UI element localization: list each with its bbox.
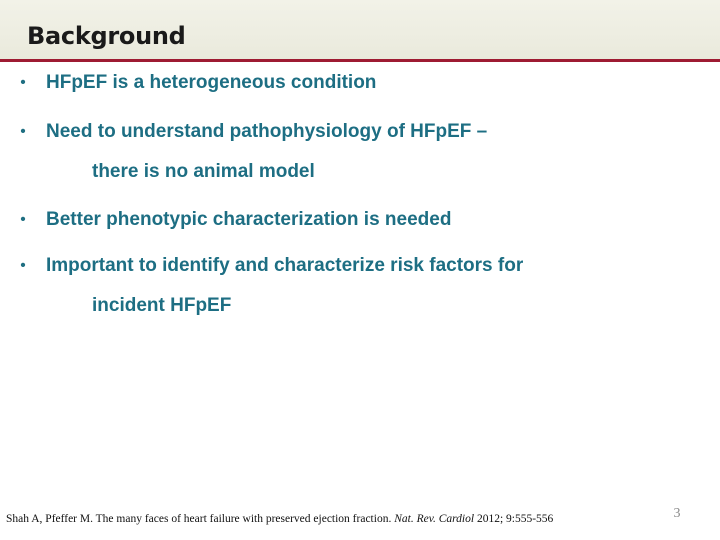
bullet-icon: •: [0, 70, 46, 95]
list-item: • HFpEF is a heterogeneous condition: [0, 70, 720, 95]
title-underline-rule: [0, 59, 720, 62]
bullet-text-continuation: incident HFpEF: [0, 293, 720, 318]
citation-authors-title: Shah A, Pfeffer M. The many faces of hea…: [6, 513, 394, 525]
list-item: • Need to understand pathophysiology of …: [0, 119, 720, 144]
bullet-text: Better phenotypic characterization is ne…: [46, 207, 720, 232]
bullet-list: • HFpEF is a heterogeneous condition • N…: [0, 70, 720, 318]
bullet-text: Need to understand pathophysiology of HF…: [46, 119, 720, 144]
citation-details: 2012; 9:555-556: [474, 513, 553, 525]
bullet-icon: •: [0, 119, 46, 144]
page-title: Background: [27, 22, 186, 50]
bullet-text-continuation: there is no animal model: [0, 159, 720, 184]
spacer: [0, 95, 720, 119]
bullet-text: HFpEF is a heterogeneous condition: [46, 70, 720, 95]
slide: Background • HFpEF is a heterogeneous co…: [0, 0, 720, 540]
citation-footnote: Shah A, Pfeffer M. The many faces of hea…: [6, 512, 646, 526]
bullet-text: Important to identify and characterize r…: [46, 253, 720, 278]
list-item: • Better phenotypic characterization is …: [0, 207, 720, 232]
spacer: [0, 144, 720, 159]
spacer: [0, 232, 720, 253]
slide-number: 3: [662, 506, 692, 522]
citation-journal: Nat. Rev. Cardiol: [394, 513, 474, 525]
bullet-icon: •: [0, 253, 46, 278]
spacer: [0, 184, 720, 207]
list-item: • Important to identify and characterize…: [0, 253, 720, 278]
bullet-icon: •: [0, 207, 46, 232]
spacer: [0, 278, 720, 293]
